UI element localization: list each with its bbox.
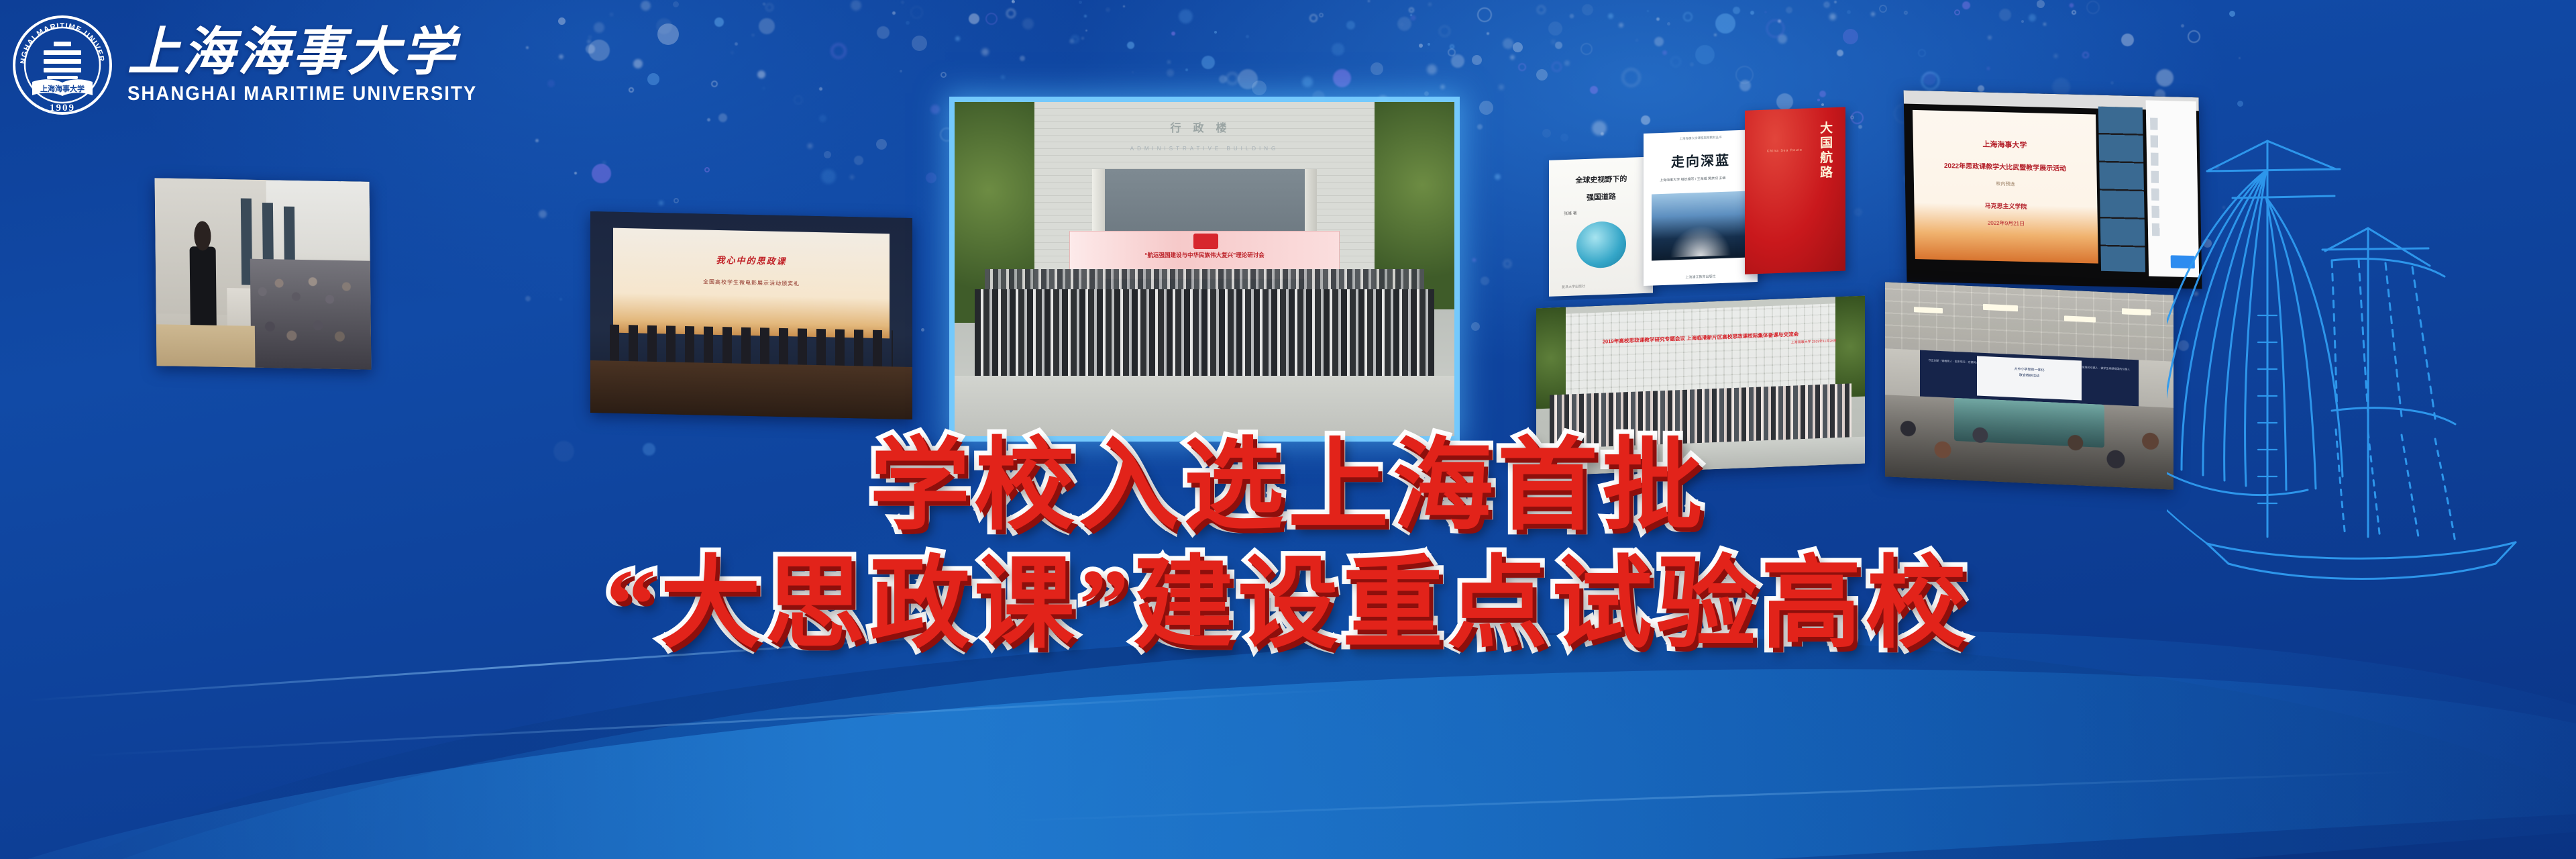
- banner-title: 学校入选上海首批 “大思政课”建设重点试验高校: [0, 436, 2576, 655]
- university-logo[interactable]: SHANGHAI MARITIME UNIVERSITY 上海海事大学 1909…: [12, 15, 508, 115]
- book1-publisher: 复旦大学出版社: [1562, 284, 1585, 289]
- presentation-slide: 上海海事大学 2022年思政课教学大比武暨教学展示活动 校内预选 马克思主义学院…: [1913, 109, 2098, 263]
- photo-online-teaching-contest[interactable]: 上海海事大学 2022年思政课教学大比武暨教学展示活动 校内预选 马克思主义学院…: [1904, 91, 2202, 289]
- photo-group-main-content: 行政楼 ADMINISTRATIVE BUILDING “航运强国建设与中华民族…: [955, 102, 1454, 436]
- university-crest-icon: SHANGHAI MARITIME UNIVERSITY 上海海事大学 1909: [12, 15, 113, 115]
- wave-decor-mid: [0, 538, 2576, 859]
- photo-roundtable-meeting[interactable]: 守正创新 · 铸魂育人 · 固本培元 · 立德树人 做学生锤炼品格的引路人 · …: [1885, 282, 2173, 490]
- slide-line-4: 马克思主义学院: [1915, 199, 2098, 213]
- sailing-ship-icon: [2167, 27, 2576, 698]
- participants-panel: [2145, 100, 2198, 277]
- svg-text:上海海事大学: 上海海事大学: [40, 84, 85, 93]
- building-name-en: ADMINISTRATIVE BUILDING: [955, 146, 1454, 152]
- light-streak-2: [81, 688, 1354, 756]
- meeting-screen: 大中小学思政一体化 联合教研活动: [1977, 356, 2082, 401]
- photo-award-ceremony[interactable]: 我心中的思政课 全国高校学生微电影展示活动颁奖礼: [590, 211, 912, 419]
- photo-lecture-hall[interactable]: [154, 178, 371, 370]
- book3-title: 大国航路: [1818, 121, 1832, 181]
- participant-video-tiles: [2098, 107, 2145, 272]
- photo-group-main[interactable]: 行政楼 ADMINISTRATIVE BUILDING “航运强国建设与中华民族…: [955, 102, 1454, 436]
- title-line-2: “大思政课”建设重点试验高校: [0, 554, 2576, 655]
- slide-line-2: 2022年思政课教学大比武暨教学展示活动: [1914, 159, 2097, 174]
- photo-group-2019-content: 2019年高校思政课教学研究专题会议 上海临港新片区高校思政课校际集体备课与交流…: [1536, 296, 1865, 476]
- light-streak-3: [1007, 770, 2415, 821]
- book-cover-1: 全球史视野下的 强国道路 张峰 著 复旦大学出版社: [1549, 157, 1653, 297]
- book1-author: 张峰 著: [1564, 210, 1577, 217]
- book2-publisher: 上海浦江教育出版社: [1644, 272, 1757, 281]
- globe-icon: [1576, 220, 1626, 268]
- group2019-banner-date: 上海海事大学 2019年11月28日: [1791, 338, 1837, 345]
- photo-lecture-hall-content: [154, 178, 371, 370]
- video-conference-window: 上海海事大学 2022年思政课教学大比武暨教学展示活动 校内预选 马克思主义学院…: [1904, 91, 2202, 289]
- title-line-1: 学校入选上海首批: [0, 436, 2576, 537]
- book2-title: 走向深蓝: [1644, 148, 1757, 172]
- award-screen-title: 我心中的思政课: [613, 251, 890, 270]
- invite-participants-button[interactable]: [2170, 256, 2194, 268]
- award-screen-subtitle: 全国高校学生微电影展示活动颁奖礼: [613, 276, 890, 289]
- book1-title-line1: 全球史视野下的: [1560, 172, 1643, 186]
- wave-decor-back: [0, 577, 2576, 859]
- slide-line-5: 2022年9月21日: [1915, 217, 2098, 230]
- book2-header: 上海海事大学课程思政教材丛书: [1644, 134, 1757, 142]
- book1-title-line2: 强国道路: [1560, 190, 1643, 203]
- photo-roundtable-meeting-content: 守正创新 · 铸魂育人 · 固本培元 · 立德树人 做学生锤炼品格的引路人 · …: [1885, 282, 2173, 490]
- light-streak-1: [28, 629, 1032, 702]
- cpc-100-emblem-icon: [1193, 234, 1218, 250]
- slide-line-1: 上海海事大学: [1913, 136, 2096, 152]
- building-name-cn: 行政楼: [955, 119, 1454, 135]
- book3-subtitle-en: China Sea Route: [1767, 148, 1803, 154]
- wave-decor-front: [0, 604, 2576, 859]
- photo-award-ceremony-content: 我心中的思政课 全国高校学生微电影展示活动颁奖礼: [590, 211, 912, 419]
- svg-text:1909: 1909: [50, 103, 75, 113]
- logo-name-cn: 上海海事大学: [127, 26, 508, 79]
- book-cover-2: 上海海事大学课程思政教材丛书 走向深蓝 上海海事大学 组织编写 / 王海威 黄余…: [1644, 130, 1757, 285]
- main-photo-banner-text: “航运强国建设与中华民族伟大复兴”理论研讨会: [1070, 251, 1338, 259]
- svg-text:SHANGHAI MARITIME UNIVERSITY: SHANGHAI MARITIME UNIVERSITY: [12, 15, 105, 64]
- backdrop-left-text: 守正创新 · 铸魂育人 · 固本培元 · 立德树人: [1929, 358, 1979, 365]
- slide-line-3: 校内预选: [1914, 179, 2097, 190]
- book2-editors: 上海海事大学 组织编写 / 王海威 黄余切 主编: [1660, 176, 1725, 184]
- photo-group-2019[interactable]: 2019年高校思政课教学研究专题会议 上海临港新片区高校思政课校际集体备课与交流…: [1536, 296, 1865, 476]
- book-cover-3: 大国航路 China Sea Route: [1745, 107, 1845, 274]
- logo-name-en: SHANGHAI MARITIME UNIVERSITY: [127, 84, 477, 104]
- photo-book-covers[interactable]: 全球史视野下的 强国道路 张峰 著 复旦大学出版社 上海海事大学课程思政教材丛书…: [1543, 95, 1858, 301]
- banner-canvas: SHANGHAI MARITIME UNIVERSITY 上海海事大学 1909…: [0, 0, 2576, 859]
